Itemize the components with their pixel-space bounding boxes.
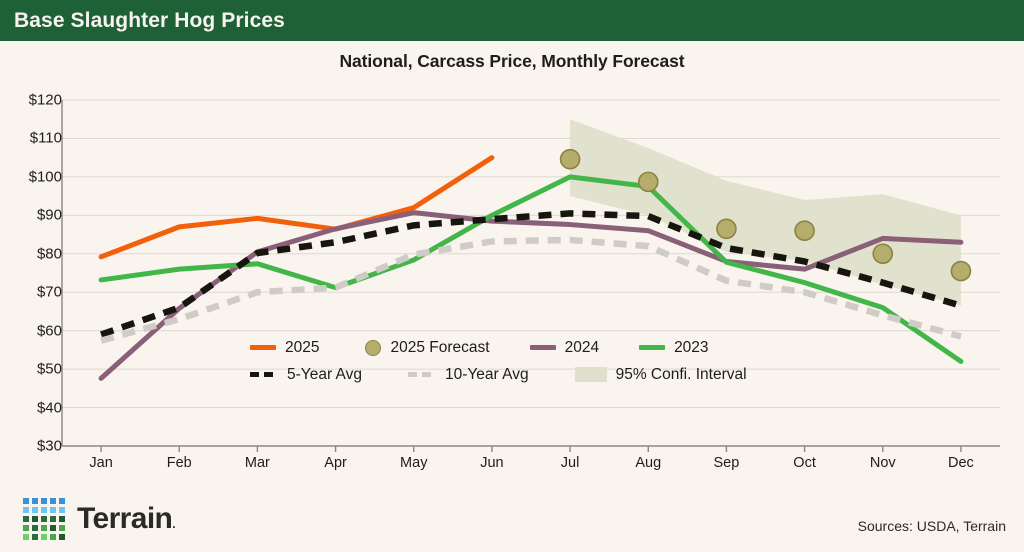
x-axis-tick-label: Jan (71, 455, 131, 471)
logo-dot (41, 525, 47, 531)
logo-dot (32, 498, 38, 504)
y-axis-tick-label: $110 (2, 130, 62, 147)
x-axis-ticks: JanFebMarAprMayJunJulAugSepOctNovDec (0, 455, 1024, 479)
plot-area: $120$110$100$90$80$70$60$50$40$30 JanFeb… (0, 0, 1024, 552)
logo-dot (50, 507, 56, 513)
logo-dot (59, 534, 65, 540)
legend-item-label: 95% Confi. Interval (616, 366, 747, 384)
legend-item[interactable]: 2024 (530, 339, 599, 357)
legend-dash-swatch (408, 372, 436, 377)
logo-dot (41, 498, 47, 504)
logo-dot (59, 498, 65, 504)
terrain-logo: Terrain. (23, 498, 175, 540)
logo-dot (41, 534, 47, 540)
x-axis-tick-label: Jun (462, 455, 522, 471)
logo-wordmark: Terrain. (77, 502, 175, 536)
legend-item-label: 2025 (285, 339, 319, 357)
legend-band-swatch (575, 367, 607, 382)
x-axis-tick-label: Oct (775, 455, 835, 471)
logo-dot (23, 534, 29, 540)
logo-dot (23, 516, 29, 522)
chart-legend: 20252025 Forecast20242023 5-Year Avg10-Y… (250, 334, 820, 388)
logo-dot (32, 507, 38, 513)
terrain-dot-grid-icon (23, 498, 65, 540)
logo-dot (50, 516, 56, 522)
legend-line-swatch (250, 345, 276, 350)
x-axis-tick-label: Sep (696, 455, 756, 471)
legend-item-label: 10-Year Avg (445, 366, 529, 384)
legend-item-label: 2025 Forecast (390, 339, 489, 357)
legend-dash-swatch (250, 372, 278, 377)
logo-dot (59, 516, 65, 522)
y-axis-tick-label: $30 (2, 438, 62, 455)
x-axis-tick-label: Aug (618, 455, 678, 471)
legend-item-label: 2024 (565, 339, 599, 357)
y-axis-tick-label: $50 (2, 361, 62, 378)
logo-dot (50, 525, 56, 531)
logo-dot (41, 516, 47, 522)
logo-dot (32, 525, 38, 531)
logo-dot (50, 534, 56, 540)
legend-dot-swatch (365, 340, 381, 356)
legend-item-label: 5-Year Avg (287, 366, 362, 384)
x-axis-tick-label: Mar (227, 455, 287, 471)
legend-row-secondary: 5-Year Avg10-Year Avg95% Confi. Interval (250, 361, 820, 388)
sources-note: Sources: USDA, Terrain (858, 518, 1006, 534)
x-axis-tick-label: Jul (540, 455, 600, 471)
logo-word-text: Terrain (77, 502, 172, 535)
x-axis-tick-label: May (384, 455, 444, 471)
y-axis-tick-label: $100 (2, 168, 62, 185)
logo-dot (50, 498, 56, 504)
y-axis-tick-label: $90 (2, 207, 62, 224)
legend-line-swatch (530, 345, 556, 350)
legend-row-primary: 20252025 Forecast20242023 (250, 334, 820, 361)
y-axis-tick-label: $40 (2, 399, 62, 416)
logo-dot (23, 498, 29, 504)
legend-item[interactable]: 2025 Forecast (365, 339, 489, 357)
y-axis-tick-label: $70 (2, 284, 62, 301)
y-axis-tick-label: $80 (2, 245, 62, 262)
y-axis-tick-label: $120 (2, 92, 62, 109)
chart-page: Base Slaughter Hog Prices National, Carc… (0, 0, 1024, 552)
x-axis-tick-label: Apr (306, 455, 366, 471)
legend-item[interactable]: 5-Year Avg (250, 366, 362, 384)
legend-item[interactable]: 95% Confi. Interval (575, 366, 747, 384)
footer: Terrain. Sources: USDA, Terrain (0, 486, 1024, 552)
legend-item[interactable]: 2023 (639, 339, 708, 357)
x-axis-tick-label: Nov (853, 455, 913, 471)
logo-dot (59, 507, 65, 513)
x-axis-tick-label: Feb (149, 455, 209, 471)
logo-dot (32, 534, 38, 540)
logo-dot (23, 525, 29, 531)
legend-line-swatch (639, 345, 665, 350)
y-axis-tick-label: $60 (2, 322, 62, 339)
logo-dot (59, 525, 65, 531)
legend-item-label: 2023 (674, 339, 708, 357)
x-axis-tick-label: Dec (931, 455, 991, 471)
logo-dot (23, 507, 29, 513)
logo-dot (32, 516, 38, 522)
legend-item[interactable]: 10-Year Avg (408, 366, 529, 384)
legend-item[interactable]: 2025 (250, 339, 319, 357)
logo-dot (41, 507, 47, 513)
